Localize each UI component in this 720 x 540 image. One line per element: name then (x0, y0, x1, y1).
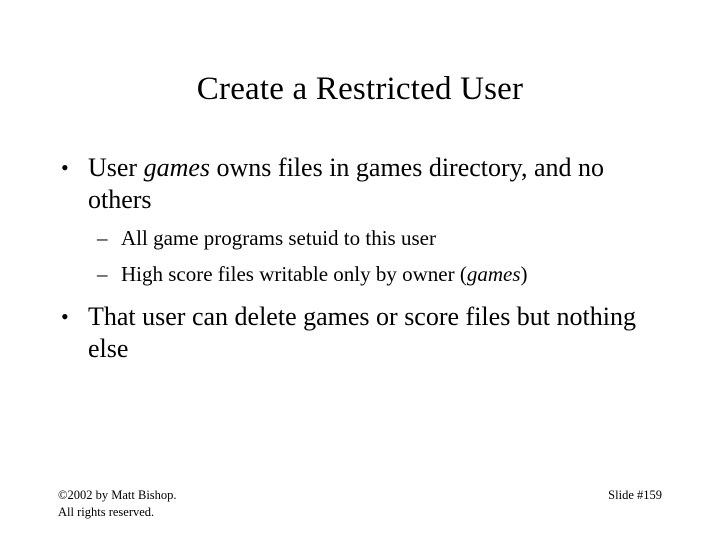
bullet-item-3-emphasis: games (467, 262, 521, 286)
sub-bullet-group: – All game programs setuid to this user … (58, 225, 662, 288)
bullet-item-1-text-before: User (88, 153, 144, 182)
bullet-item-4-text: That user can delete games or score file… (88, 302, 636, 363)
bullet-item-3: – High score files writable only by owne… (58, 261, 662, 288)
slide-canvas: Create a Restricted User • User games ow… (0, 0, 720, 540)
bullet-dash-icon: – (97, 225, 108, 252)
bullet-dash-icon: – (97, 261, 108, 288)
bullet-dot-icon: • (61, 301, 69, 333)
bullet-item-2: – All game programs setuid to this user (58, 225, 662, 252)
bullet-dot-icon: • (61, 152, 69, 184)
bullet-item-3-text-before: High score files writable only by owner … (121, 262, 467, 286)
slide-footer: ©2002 by Matt Bishop. All rights reserve… (58, 487, 662, 527)
slide-body: • User games owns files in games directo… (58, 152, 662, 367)
copyright-line-2: All rights reserved. (58, 504, 177, 521)
bullet-item-3-text: High score files writable only by owner … (121, 262, 528, 286)
bullet-item-2-text: All game programs setuid to this user (121, 226, 436, 250)
bullet-item-3-text-after: ) (521, 262, 528, 286)
bullet-item-1: • User games owns files in games directo… (58, 152, 662, 216)
copyright-line-1: ©2002 by Matt Bishop. (58, 487, 177, 504)
page-title: Create a Restricted User (0, 69, 720, 109)
copyright-notice: ©2002 by Matt Bishop. All rights reserve… (58, 487, 177, 521)
bullet-item-1-emphasis: games (144, 153, 210, 182)
bullet-item-4: • That user can delete games or score fi… (58, 301, 662, 365)
slide-number: Slide #159 (608, 487, 662, 504)
bullet-item-1-text: User games owns files in games directory… (88, 153, 604, 214)
